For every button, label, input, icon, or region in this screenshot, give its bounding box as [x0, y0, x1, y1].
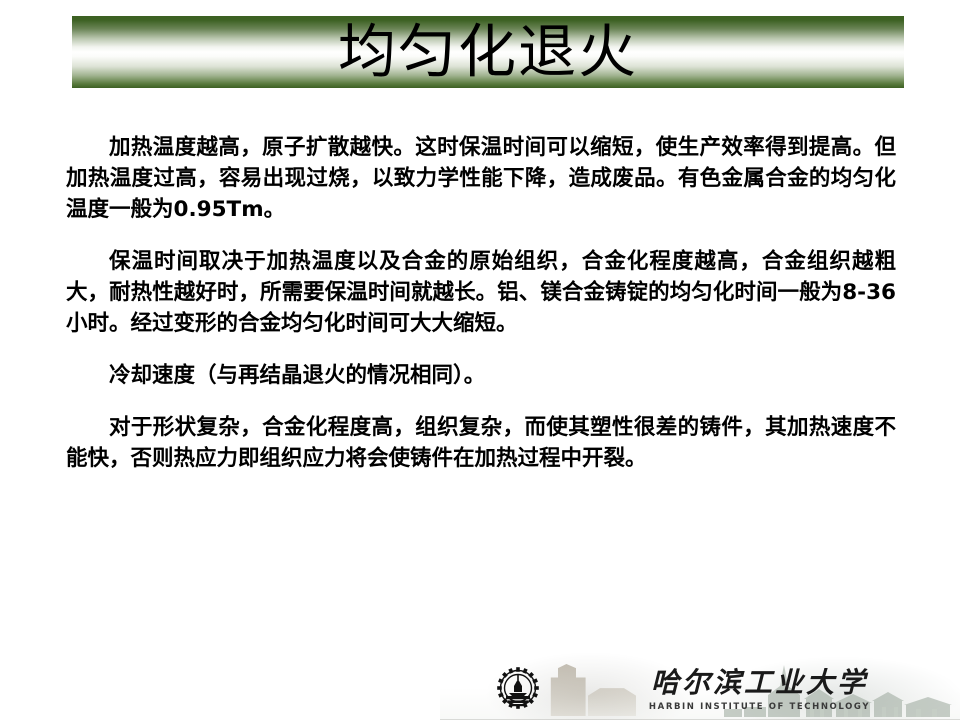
body-paragraph-4: 对于形状复杂，合金化程度高，组织复杂，而使其塑性很差的铸件，其加热速度不能快，否…: [66, 412, 896, 474]
university-name-en: HARBIN INSTITUTE OF TECHNOLOGY: [632, 702, 887, 712]
gear-emblem-icon: [492, 662, 544, 714]
footer-logo-strip: 哈尔滨工业大学 HARBIN INSTITUTE OF TECHNOLOGY: [440, 648, 960, 720]
body-paragraph-1: 加热温度越高，原子扩散越快。这时保温时间可以缩短，使生产效率得到提高。但加热温度…: [66, 132, 896, 225]
body-paragraph-3: 冷却速度（与再结晶退火的情况相同）。: [66, 360, 896, 391]
page-title: 均匀化退火: [72, 22, 904, 83]
slide-canvas: 均匀化退火 加热温度越高，原子扩散越快。这时保温时间可以缩短，使生产效率得到提高…: [0, 0, 960, 720]
university-name-zh: 哈尔滨工业大学: [632, 664, 887, 702]
slide-title-banner: 均匀化退火: [72, 16, 904, 88]
slide-body: 加热温度越高，原子扩散越快。这时保温时间可以缩短，使生产效率得到提高。但加热温度…: [66, 132, 896, 474]
body-paragraph-2: 保温时间取决于加热温度以及合金的原始组织，合金化程度越高，合金组织越粗大，耐热性…: [66, 246, 896, 339]
